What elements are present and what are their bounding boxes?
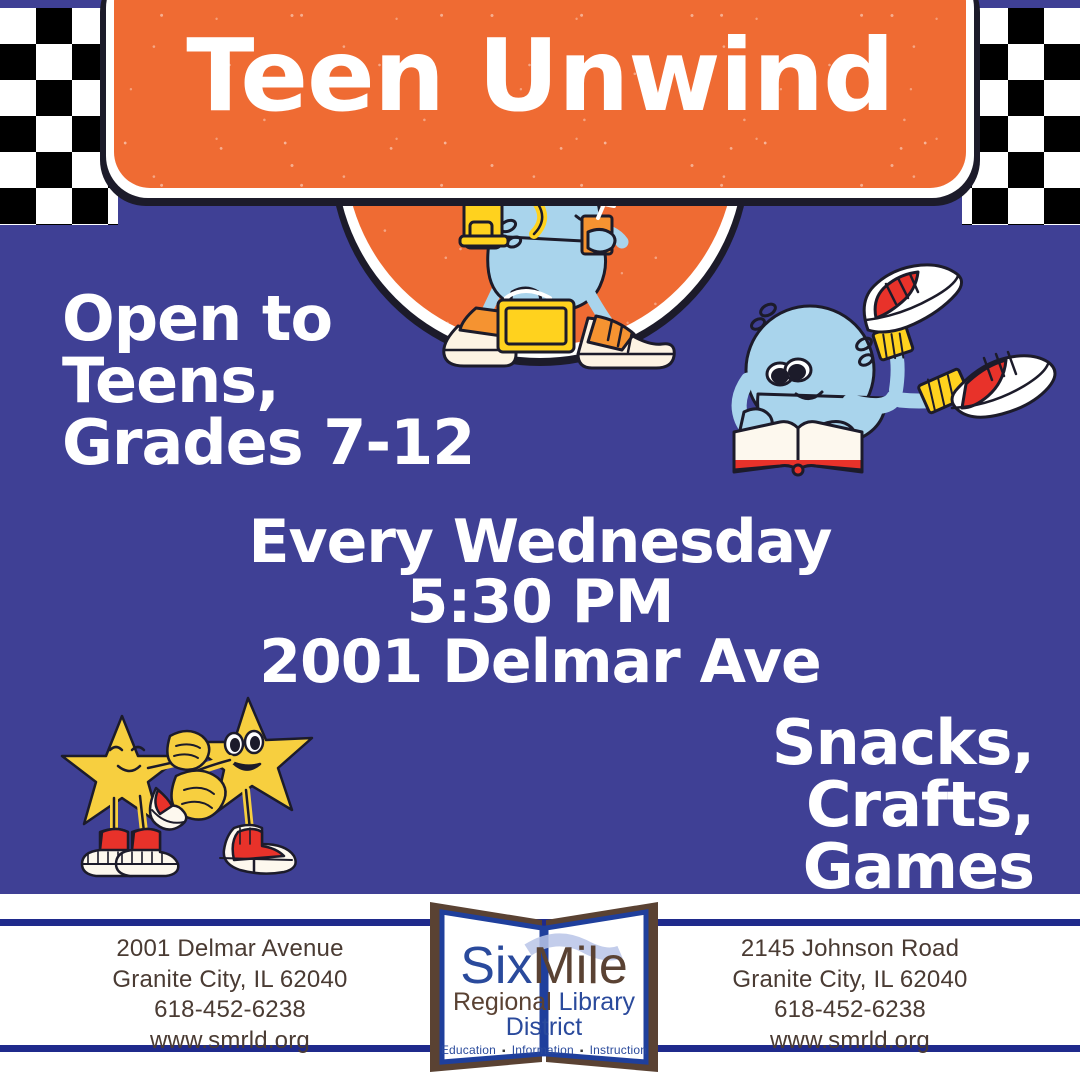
- logo-tagline-instruction: Instruction: [590, 1043, 648, 1057]
- stars-fist-bump-icon: [48, 692, 338, 892]
- logo-tagline-sep-1: ▪: [496, 1046, 512, 1057]
- schedule-text: Every Wednesday 5:30 PM 2001 Delmar Ave: [0, 512, 1080, 692]
- logo-tagline: Education ▪ Information ▪ Instruction: [424, 1043, 664, 1057]
- audience-text: Open to Teens, Grades 7-12: [62, 288, 474, 474]
- logo-line-secondary: Regional Library District: [424, 990, 664, 1040]
- logo-wordmark: SixMile Regional Library District Educat…: [424, 940, 664, 1057]
- poster-canvas: Teen Unwind: [0, 0, 1080, 1080]
- footer: 2001 Delmar Avenue Granite City, IL 6204…: [0, 894, 1080, 1080]
- activities-text: Snacks, Crafts, Games: [772, 712, 1034, 898]
- page-title: Teen Unwind: [100, 26, 980, 126]
- logo-tagline-information: Information: [512, 1043, 574, 1057]
- footer-address-right: 2145 Johnson Road Granite City, IL 62040…: [690, 934, 1010, 1057]
- logo-tagline-sep-2: ▪: [574, 1046, 590, 1057]
- logo-line-primary: SixMile: [424, 940, 664, 992]
- logo-word-six: Six: [460, 937, 532, 995]
- footer-address-left: 2001 Delmar Avenue Granite City, IL 6204…: [70, 934, 390, 1057]
- library-logo: SixMile Regional Library District Educat…: [424, 898, 664, 1076]
- logo-word-mile: Mile: [532, 937, 627, 995]
- logo-tagline-education: Education: [441, 1043, 496, 1057]
- logo-word-regional: Regional: [453, 988, 559, 1016]
- title-banner: Teen Unwind: [100, 0, 980, 215]
- octopus-reading-icon: [700, 262, 1070, 492]
